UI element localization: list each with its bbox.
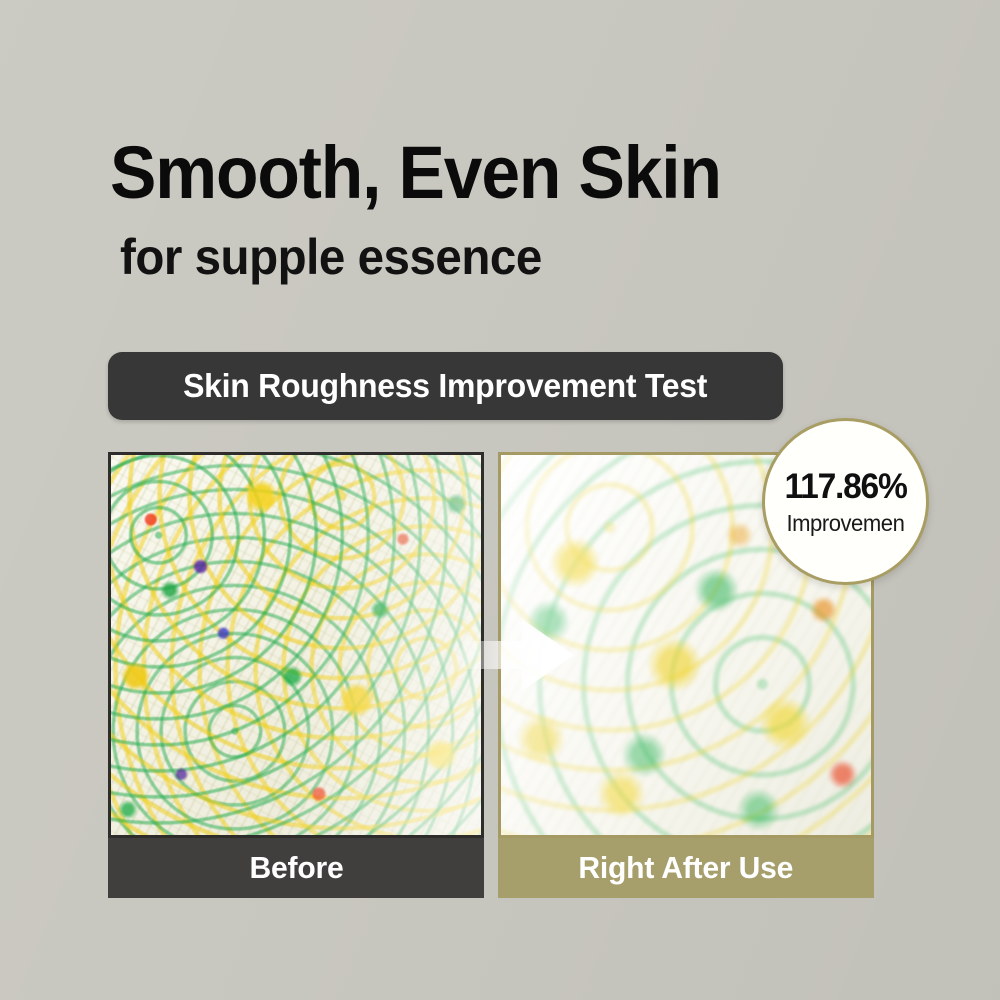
arrow-right-icon — [462, 617, 574, 693]
improvement-badge: 117.86% Improvemen — [762, 418, 929, 585]
improvement-value: 117.86% — [784, 469, 906, 504]
test-banner: Skin Roughness Improvement Test — [108, 352, 783, 420]
comparison-panel-before: Before — [108, 452, 484, 898]
page-subtitle: for supple essence — [120, 232, 542, 282]
caption-bar-before: Before — [108, 838, 484, 898]
promo-canvas: Smooth, Even Skin for supple essence Ski… — [0, 0, 1000, 1000]
caption-label-after: Right After Use — [579, 850, 794, 886]
page-title: Smooth, Even Skin — [110, 136, 721, 210]
caption-bar-after: Right After Use — [498, 838, 874, 898]
test-banner-label: Skin Roughness Improvement Test — [183, 367, 707, 405]
improvement-caption: Improvemen — [787, 512, 905, 535]
caption-label-before: Before — [249, 850, 343, 886]
skin-scan-image-before — [108, 452, 484, 838]
skin-texture-before — [108, 452, 484, 838]
